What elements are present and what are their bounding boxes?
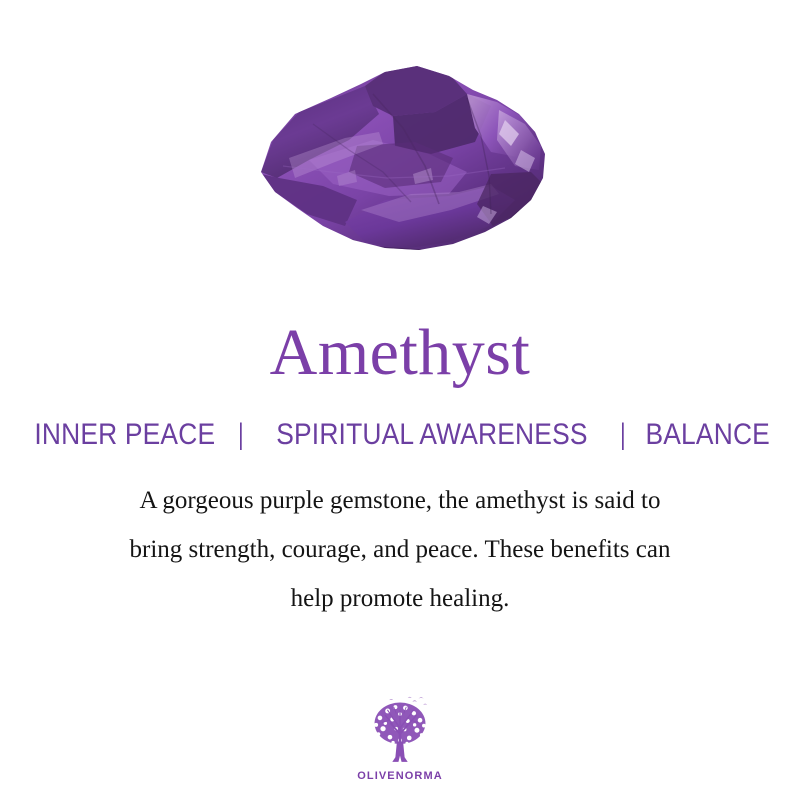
product-description: A gorgeous purple gemstone, the amethyst… xyxy=(50,476,750,623)
amethyst-crystal-illustration xyxy=(253,54,553,259)
tree-of-life-icon xyxy=(361,694,439,768)
keyword-separator: | xyxy=(613,420,632,450)
product-card: Amethyst INNER PEACE | SPIRITUAL AWARENE… xyxy=(0,0,800,800)
page-title: Amethyst xyxy=(270,320,531,386)
keyword-inner-peace: INNER PEACE xyxy=(34,420,215,450)
brand-wordmark: OLIVENORMA xyxy=(357,770,443,782)
keyword-list: INNER PEACE | SPIRITUAL AWARENESS | BALA… xyxy=(22,420,779,450)
amethyst-raw-crystal-icon xyxy=(253,54,553,259)
keyword-balance: BALANCE xyxy=(645,420,769,450)
description-line: help promote healing. xyxy=(50,574,750,623)
description-line: bring strength, courage, and peace. Thes… xyxy=(50,525,750,574)
keyword-separator: | xyxy=(231,420,250,450)
brand-logo: OLIVENORMA xyxy=(0,694,800,782)
gemstone-image-area xyxy=(0,0,800,320)
keyword-spiritual-awareness: SPIRITUAL AWARENESS xyxy=(276,420,587,450)
description-line: A gorgeous purple gemstone, the amethyst… xyxy=(50,476,750,525)
tree-canopy xyxy=(374,697,427,762)
